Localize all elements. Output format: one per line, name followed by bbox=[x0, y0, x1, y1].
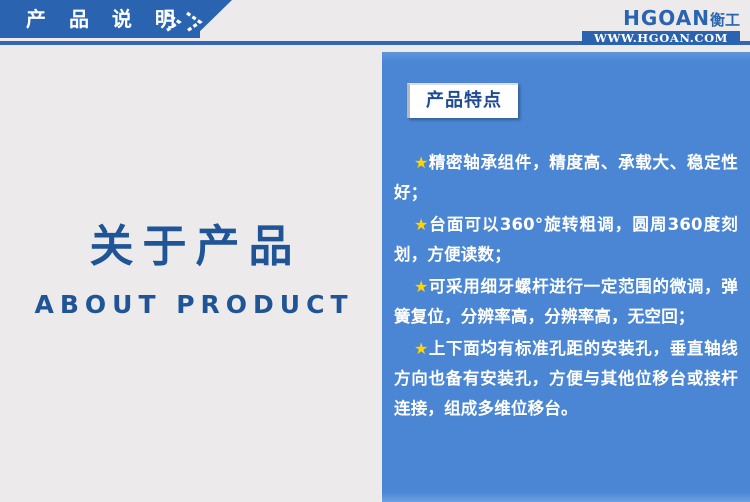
product-features-panel: 产品特点 ★精密轴承组件，精度高、承载大、稳定性好； ★台面可以360°旋转粗调… bbox=[382, 52, 750, 502]
features-title: 产品特点 bbox=[426, 90, 502, 111]
about-heading-chinese: 关于产品 bbox=[0, 222, 382, 272]
feature-item: ★上下面均有标准孔距的安装孔，垂直轴线方向也备有安装孔，方便与其他位移台或接杆连… bbox=[394, 334, 738, 424]
brand-logo: HGOAN衡工 WWW.HGOAN.COM bbox=[582, 8, 740, 42]
feature-item: ★台面可以360°旋转粗调，圆周360度刻划，方便读数； bbox=[394, 210, 738, 270]
features-list: ★精密轴承组件，精度高、承载大、稳定性好； ★台面可以360°旋转粗调，圆周36… bbox=[394, 148, 738, 426]
feature-item: ★可采用细牙螺杆进行一定范围的微调，弹簧复位，分辨率高，分辨率高，无空回； bbox=[394, 272, 738, 332]
star-icon: ★ bbox=[414, 215, 429, 234]
page-header: 产 品 说 明 HGOAN衡工 WWW.HGOAN.COM bbox=[0, 0, 750, 46]
logo-latin: HGOAN bbox=[623, 6, 710, 30]
logo-website-url: WWW.HGOAN.COM bbox=[582, 31, 740, 45]
star-icon: ★ bbox=[414, 339, 429, 358]
about-heading-english: ABOUT PRODUCT bbox=[0, 290, 382, 320]
feature-item: ★精密轴承组件，精度高、承载大、稳定性好； bbox=[394, 148, 738, 208]
star-icon: ★ bbox=[414, 153, 429, 172]
logo-wordmark: HGOAN衡工 bbox=[582, 8, 740, 30]
header-title: 产 品 说 明 bbox=[26, 7, 183, 31]
features-title-box: 产品特点 bbox=[407, 83, 518, 118]
logo-chinese: 衡工 bbox=[710, 11, 740, 29]
product-description-banner: 产 品 说 明 HGOAN衡工 WWW.HGOAN.COM 关于产品 ABOUT… bbox=[0, 0, 750, 502]
double-chevron-right-icon bbox=[163, 11, 219, 33]
star-icon: ★ bbox=[414, 277, 429, 296]
about-product-pane: 关于产品 ABOUT PRODUCT bbox=[0, 52, 382, 502]
